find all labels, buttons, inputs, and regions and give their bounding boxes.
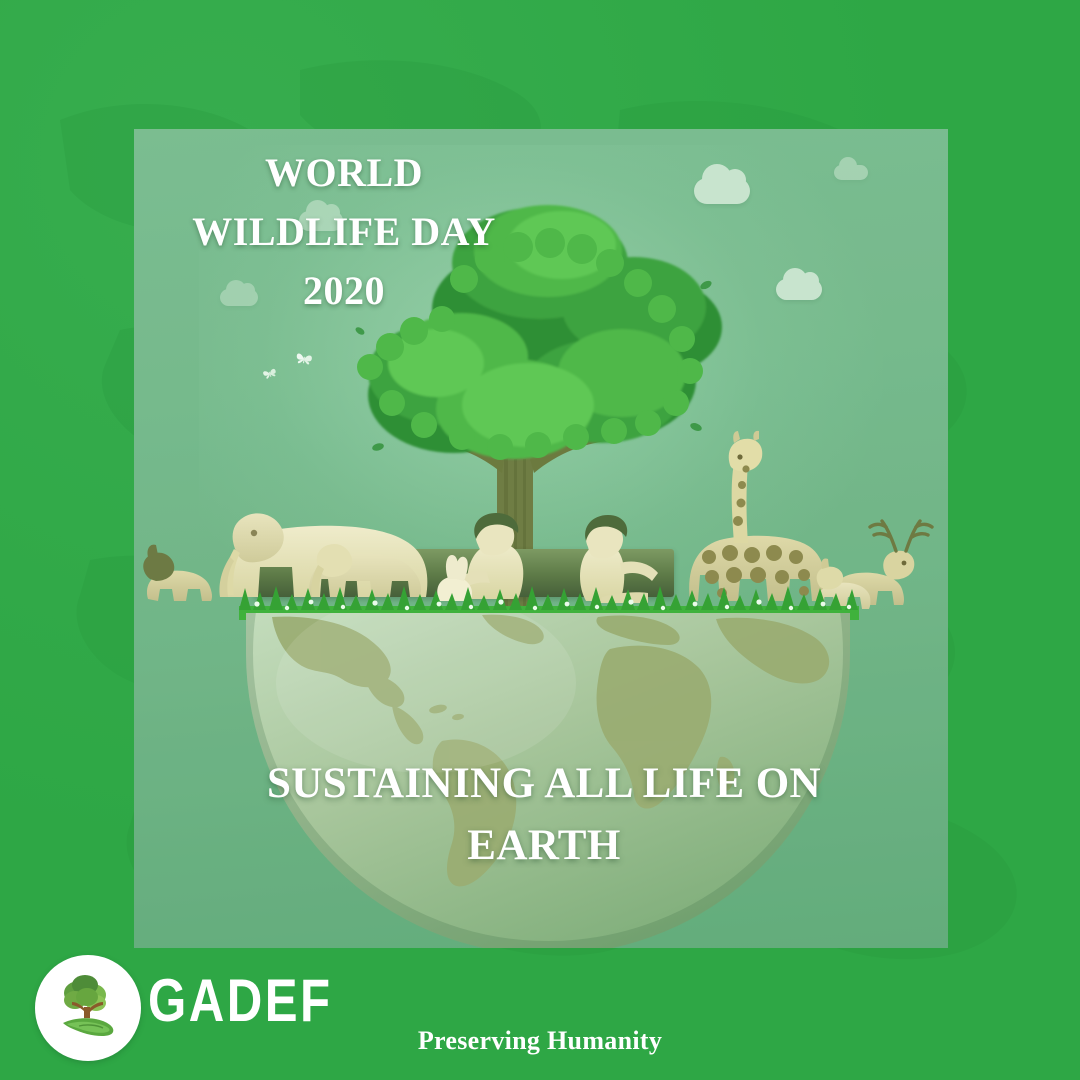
subtitle-line-1: SUSTAINING ALL LIFE ON <box>194 753 894 815</box>
subtitle: SUSTAINING ALL LIFE ON EARTH <box>194 753 894 878</box>
poster-canvas: WORLD WILDLIFE DAY 2020 SUSTAINING ALL L… <box>0 0 1080 1080</box>
cloud-icon <box>776 279 822 300</box>
headline-line-1: WORLD <box>174 143 514 202</box>
cloud-icon <box>834 165 868 180</box>
brand-name: GADEF <box>148 971 333 1031</box>
headline-line-3: 2020 <box>174 261 514 320</box>
page-title: WORLD WILDLIFE DAY 2020 <box>174 143 514 321</box>
subtitle-line-2: EARTH <box>194 815 894 877</box>
headline-line-2: WILDLIFE DAY <box>174 202 514 261</box>
tagline: Preserving Humanity <box>0 1026 1080 1056</box>
artwork-panel: WORLD WILDLIFE DAY 2020 SUSTAINING ALL L… <box>134 129 948 948</box>
